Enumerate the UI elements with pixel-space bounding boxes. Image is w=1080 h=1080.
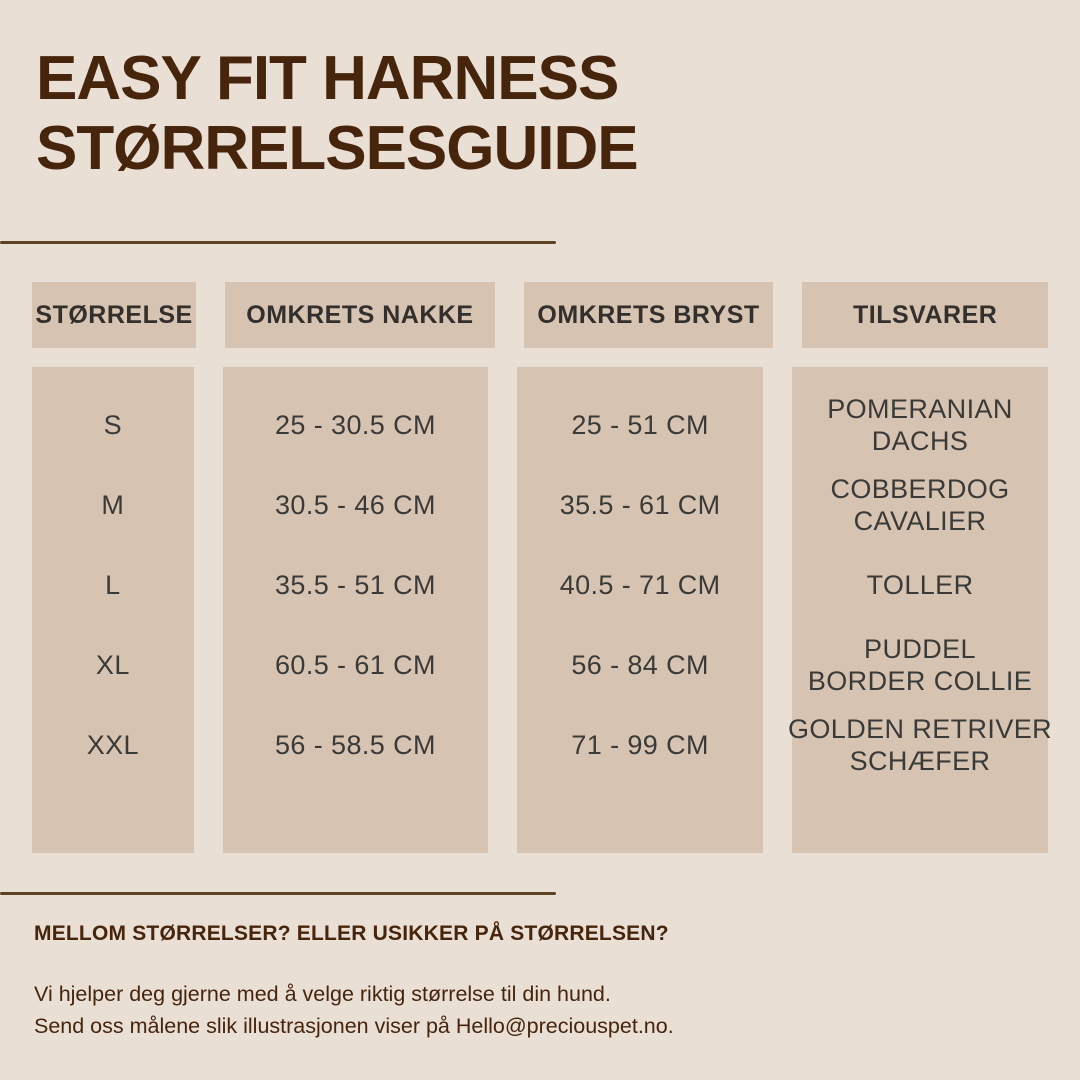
column-header-chest: OMKRETS BRYST — [524, 282, 774, 348]
breed-line: DACHS — [872, 425, 969, 457]
table-row: 56 - 84 CM — [517, 625, 763, 705]
divider-top — [0, 241, 556, 244]
column-breeds: POMERANIAN DACHS COBBERDOG CAVALIER TOLL… — [792, 367, 1048, 853]
page-title-line-1: EASY FIT HARNESS — [36, 44, 1036, 114]
size-guide-page: EASY FIT HARNESS STØRRELSESGUIDE STØRREL… — [0, 0, 1080, 1080]
column-neck: 25 - 30.5 CM 30.5 - 46 CM 35.5 - 51 CM 6… — [223, 367, 489, 853]
table-body: S M L XL XXL 25 - 30.5 CM 30.5 - 46 CM 3… — [32, 367, 1048, 853]
table-row: 60.5 - 61 CM — [223, 625, 489, 705]
divider-bottom — [0, 892, 556, 895]
table-row: GOLDEN RETRIVER SCHÆFER — [792, 705, 1048, 785]
table-row: TOLLER — [792, 545, 1048, 625]
table-row: S — [32, 385, 194, 465]
column-header-size: STØRRELSE — [32, 282, 196, 348]
table-row: 71 - 99 CM — [517, 705, 763, 785]
table-row: M — [32, 465, 194, 545]
size-table: STØRRELSE OMKRETS NAKKE OMKRETS BRYST TI… — [32, 282, 1048, 853]
table-row: 56 - 58.5 CM — [223, 705, 489, 785]
footer: MELLOM STØRRELSER? ELLER USIKKER PÅ STØR… — [34, 922, 1034, 1042]
breed-line: GOLDEN RETRIVER — [788, 713, 1052, 745]
table-row: 25 - 30.5 CM — [223, 385, 489, 465]
table-row: L — [32, 545, 194, 625]
breed-line: TOLLER — [867, 569, 974, 601]
breed-line: POMERANIAN — [827, 393, 1013, 425]
table-row: XXL — [32, 705, 194, 785]
table-row: 25 - 51 CM — [517, 385, 763, 465]
page-title-line-2: STØRRELSESGUIDE — [36, 114, 1036, 184]
breed-line: BORDER COLLIE — [808, 665, 1032, 697]
page-title: EASY FIT HARNESS STØRRELSESGUIDE — [36, 44, 1036, 184]
breed-line: COBBERDOG — [830, 473, 1009, 505]
table-row: PUDDEL BORDER COLLIE — [792, 625, 1048, 705]
table-row: XL — [32, 625, 194, 705]
footer-body-line-2: Send oss målene slik illustrasjonen vise… — [34, 1010, 1034, 1042]
table-row: 30.5 - 46 CM — [223, 465, 489, 545]
breed-line: CAVALIER — [854, 505, 987, 537]
table-row: 35.5 - 61 CM — [517, 465, 763, 545]
footer-body-line-1: Vi hjelper deg gjerne med å velge riktig… — [34, 978, 1034, 1010]
breed-line: SCHÆFER — [850, 745, 991, 777]
table-row: 40.5 - 71 CM — [517, 545, 763, 625]
table-row: 35.5 - 51 CM — [223, 545, 489, 625]
column-header-neck: OMKRETS NAKKE — [225, 282, 495, 348]
column-size: S M L XL XXL — [32, 367, 194, 853]
breed-line: PUDDEL — [864, 633, 976, 665]
table-row: COBBERDOG CAVALIER — [792, 465, 1048, 545]
column-chest: 25 - 51 CM 35.5 - 61 CM 40.5 - 71 CM 56 … — [517, 367, 763, 853]
table-row: POMERANIAN DACHS — [792, 385, 1048, 465]
table-header-row: STØRRELSE OMKRETS NAKKE OMKRETS BRYST TI… — [32, 282, 1048, 348]
footer-heading: MELLOM STØRRELSER? ELLER USIKKER PÅ STØR… — [34, 922, 1034, 946]
footer-body: Vi hjelper deg gjerne med å velge riktig… — [34, 978, 1034, 1042]
column-header-breeds: TILSVARER — [802, 282, 1048, 348]
